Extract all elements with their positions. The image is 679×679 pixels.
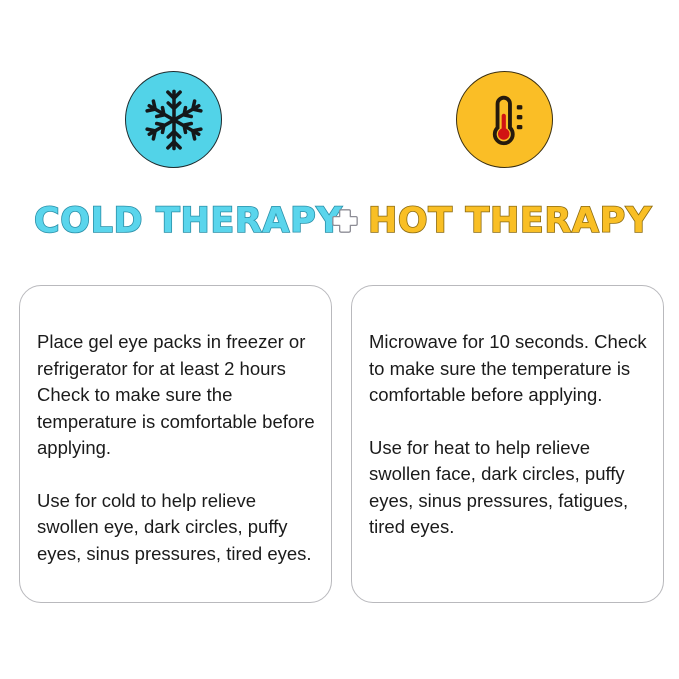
hot-benefits-paragraph: Use for heat to help relieve swollen fac… — [369, 435, 651, 541]
titles-row: COLD THERAPY HOT THERAPY — [0, 199, 679, 249]
snowflake-icon — [140, 86, 208, 154]
cold-therapy-icon-badge — [125, 71, 222, 168]
hot-therapy-card: Microwave for 10 seconds. Check to make … — [351, 285, 664, 603]
cold-therapy-card-body: Place gel eye packs in freezer or refrig… — [37, 329, 319, 567]
hot-therapy-card-body: Microwave for 10 seconds. Check to make … — [369, 329, 651, 541]
cold-therapy-card: Place gel eye packs in freezer or refrig… — [19, 285, 332, 603]
plus-icon — [331, 207, 359, 235]
cold-instructions-paragraph: Place gel eye packs in freezer or refrig… — [37, 329, 319, 462]
cold-benefits-paragraph: Use for cold to help relieve swollen eye… — [37, 488, 319, 568]
hot-therapy-title: HOT THERAPY — [368, 199, 652, 243]
infographic-page: COLD THERAPY HOT THERAPY Place gel eye p… — [0, 0, 679, 679]
hot-instructions-paragraph: Microwave for 10 seconds. Check to make … — [369, 329, 651, 409]
cold-therapy-title: COLD THERAPY — [34, 199, 342, 243]
thermometer-icon — [474, 89, 536, 151]
hot-therapy-icon-badge — [456, 71, 553, 168]
